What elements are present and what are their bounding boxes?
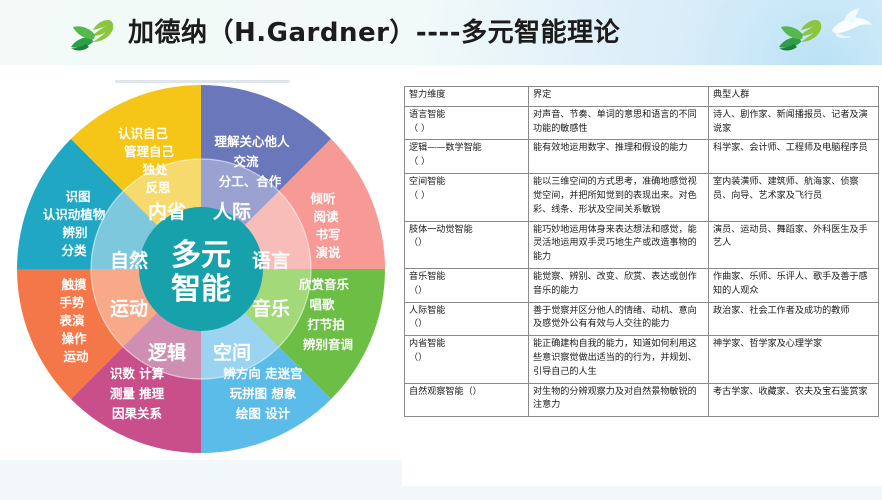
wheel-keyword: 认识动植物 [43,207,106,222]
wheel-keyword: 表演 [58,313,85,328]
cell-people: 科学家、会计师、工程师及电脑程序员 [709,140,879,174]
wheel-keyword: 欣赏音乐 [299,277,350,292]
wheel-keyword: 反思 [145,180,171,195]
cell-people: 演员、运动员、舞蹈家、外科医生及手艺人 [709,221,879,268]
page-title: 加德纳（H.Gardner）----多元智能理论 [128,8,768,58]
cell-dimension: 语言智能 （ ） [405,106,529,140]
wheel-inner-label-bodily: 运动 [110,298,148,320]
wheel-center-label-line2: 智能 [171,272,231,307]
wheel-keyword: 阅读 [313,209,339,224]
table-header-people: 典型人群 [709,87,879,107]
wheel-keyword: 交流 [233,154,259,169]
dimension-name: 肢体一动觉智能 [409,225,473,235]
dimension-name: 内省智能 [409,339,445,349]
wheel-keyword: 倾听 [309,191,336,206]
wheel-keyword: 书写 [315,227,340,242]
cell-dimension: 音乐智能 （） [405,268,529,302]
wheel-keyword: 分类 [61,243,87,258]
dimension-name: 人际智能 [409,306,445,316]
wheel-panel: 认识自己 管理自己 独处 反思 理解关心他人 交流 分工、合作 识图 认识动植物… [0,65,402,460]
cell-dimension: 内省智能 （） [405,336,529,383]
cell-people: 诗人、剧作家、新闻播报员、记者及演说家 [709,106,879,140]
table-header-row: 智力维度 界定 典型人群 [405,87,879,107]
table-row: 自然观察智能（） 对生物的分辨观察力及对自然景物敏锐的注意力 考古学家、收藏家、… [405,383,879,417]
wheel-inner-label-linguistic: 语言 [252,249,290,272]
wheel-keyword: 手势 [59,295,85,310]
table-row: 空间智能 （ ） 能以三维空间的方式思考，准确地感觉视觉空间，并把所知觉到的表现… [405,174,879,221]
leaf-sprig-icon [62,14,118,56]
wheel-keyword: 管理自己 [124,144,175,159]
background-strip [0,460,402,486]
table-header-definition: 界定 [529,87,709,107]
intelligence-table-panel: 智力维度 界定 典型人群 语言智能 （ ） 对声音、节奏、单词的意思和语言的不同… [404,86,878,494]
cell-definition: 对声音、节奏、单词的意思和语言的不同功能的敏感性 [529,106,709,140]
wheel-inner-label-logical: 逻辑 [148,341,186,364]
wheel-keyword: 识数 计算 [110,366,165,381]
table-header-dimension: 智力维度 [405,87,529,107]
dimension-name: 自然观察智能（） [409,387,482,397]
cell-definition: 能正确建构自我的能力，知道如何利用这些意识察觉做出适当的的行为，并规划、引导自己… [529,336,709,383]
multiple-intelligences-wheel: 认识自己 管理自己 独处 反思 理解关心他人 交流 分工、合作 识图 认识动植物… [17,85,385,453]
wheel-keyword: 识图 [65,189,90,204]
wheel-keyword: 理解关心他人 [214,134,290,149]
cell-definition: 能巧妙地运用体身来表达想法和感觉，能灵活地运用双手灵巧地生产或改造事物的能力 [529,221,709,268]
wheel-inner-label-musical: 音乐 [252,297,290,320]
cell-definition: 善于觉察并区分他人的情绪、动机、意向及感觉外公有有效与人交往的能力 [529,302,709,336]
dimension-blank: （） [409,285,524,299]
wheel-keyword: 辨别 [62,225,87,240]
wheel-keyword: 唱歌 [309,297,335,312]
table-row: 肢体一动觉智能 （） 能巧妙地运用体身来表达想法和感觉，能灵活地运用双手灵巧地生… [405,221,879,268]
wheel-keyword: 操作 [61,331,87,346]
table-row: 语言智能 （ ） 对声音、节奏、单词的意思和语言的不同功能的敏感性 诗人、剧作家… [405,106,879,140]
cell-definition: 能觉察、辨别、改变、欣赏、表达或创作音乐的能力 [529,268,709,302]
dimension-blank: （） [409,318,524,332]
dimension-blank: （） [409,352,524,366]
footer-strip [0,486,882,500]
cell-definition: 能以三维空间的方式思考，准确地感觉视觉空间，并把所知觉到的表现出来。对色彩、线条… [529,174,709,221]
table-row: 人际智能 （） 善于觉察并区分他人的情绪、动机、意向及感觉外公有有效与人交往的能… [405,302,879,336]
wheel-keyword: 玩拼图 想象 [230,386,297,401]
table-row: 逻辑——数学智能 （ ） 能有效地运用数字、推理和假设的能力 科学家、会计师、工… [405,140,879,174]
dimension-blank: （ ） [409,190,524,204]
cell-dimension: 肢体一动觉智能 （） [405,221,529,268]
dimension-name: 语言智能 [409,110,445,120]
wheel-keyword: 测量 推理 [110,386,165,401]
cell-definition: 能有效地运用数字、推理和假设的能力 [529,140,709,174]
wheel-keyword: 演说 [315,245,341,260]
dimension-name: 空间智能 [409,177,445,187]
decorative-divider [115,80,290,83]
cell-people: 政治家、社会工作者及成功的教师 [709,302,879,336]
cell-people: 考古学家、收藏家、农夫及宝石鉴赏家 [709,383,879,417]
cell-dimension: 逻辑——数学智能 （ ） [405,140,529,174]
dove-icon [824,4,878,46]
wheel-keyword: 认识自己 [118,126,169,141]
dimension-blank: （ ） [409,156,524,170]
wheel-keyword: 绘图 设计 [236,406,291,421]
wheel-inner-label-naturalist: 自然 [110,249,148,272]
table-row: 音乐智能 （） 能觉察、辨别、改变、欣赏、表达或创作音乐的能力 作曲家、乐师、乐… [405,268,879,302]
header-banner: 加德纳（H.Gardner）----多元智能理论 [0,0,882,65]
cell-people: 作曲家、乐师、乐评人、歌手及善于感知的人观众 [709,268,879,302]
wheel-inner-label-intrapersonal: 内省 [148,200,186,223]
dimension-blank: （ ） [409,123,524,137]
wheel-keyword: 独处 [141,162,168,177]
table-row: 内省智能 （） 能正确建构自我的能力，知道如何利用这些意识察觉做出适当的的行为，… [405,336,879,383]
cell-dimension: 空间智能 （ ） [405,174,529,221]
wheel-keyword: 因果关系 [112,406,163,421]
wheel-keyword: 打节拍 [307,317,345,332]
leaf-sprig-icon [770,14,826,56]
cell-definition: 对生物的分辨观察力及对自然景物敏锐的注意力 [529,383,709,417]
cell-people: 室内装潢师、建筑师、航海家、侦察员、向导、艺术家及飞行员 [709,174,879,221]
wheel-inner-label-interpersonal: 人际 [213,201,251,223]
wheel-keyword: 触摸 [60,277,87,292]
cell-people: 神学家、哲学家及心理学家 [709,336,879,383]
cell-dimension: 自然观察智能（） [405,383,529,417]
cell-dimension: 人际智能 （） [405,302,529,336]
wheel-center-label-line1: 多元 [171,238,231,273]
dimension-name: 音乐智能 [409,272,445,282]
wheel-keyword: 辨方向 走迷宫 [223,366,302,381]
dimension-name: 逻辑——数学智能 [409,143,482,153]
wheel-keyword: 辨别音调 [303,337,353,352]
wheel-keyword: 分工、合作 [219,174,282,189]
wheel-inner-label-spatial: 空间 [213,341,251,364]
intelligence-table: 智力维度 界定 典型人群 语言智能 （ ） 对声音、节奏、单词的意思和语言的不同… [404,86,879,417]
dimension-blank: （） [409,237,524,251]
wheel-keyword: 运动 [63,349,89,364]
